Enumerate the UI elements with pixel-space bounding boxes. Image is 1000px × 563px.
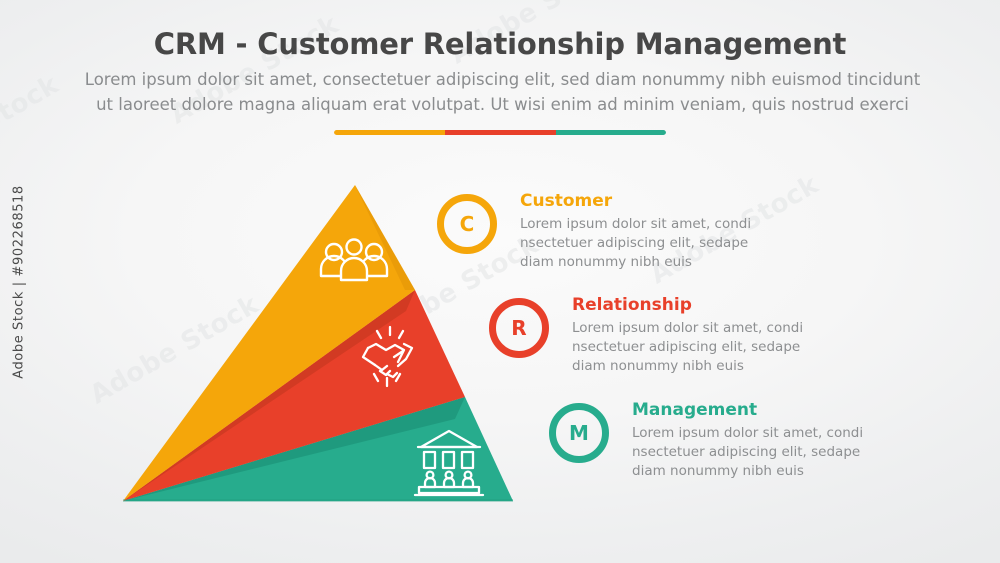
item-management[interactable]: M Management Lorem ipsum dolor sit amet,… xyxy=(549,399,877,481)
item-heading-management: Management xyxy=(632,401,877,420)
pyramid-band-relationship-shadow xyxy=(123,290,415,501)
item-body-management: Management Lorem ipsum dolor sit amet, c… xyxy=(632,399,877,481)
people-group-icon xyxy=(321,240,387,281)
pyramid-base-shadow xyxy=(123,499,513,502)
pyramid-band-management xyxy=(123,397,513,501)
infographic-canvas: Adobe Stock Adobe Stock Adobe Stock Adob… xyxy=(0,0,1000,563)
badge-letter-customer: C xyxy=(460,214,475,234)
divider-segment-amber xyxy=(334,130,445,135)
item-description-management: Lorem ipsum dolor sit amet, condi nsecte… xyxy=(632,424,877,481)
badge-letter-management: M xyxy=(569,423,589,443)
badge-customer: C xyxy=(437,194,497,254)
item-description-customer: Lorem ipsum dolor sit amet, condi nsecte… xyxy=(520,215,765,272)
divider-segment-teal xyxy=(556,130,666,135)
handshake-icon xyxy=(363,327,412,386)
stock-credit-label: Adobe Stock | #902268518 xyxy=(12,185,27,379)
pyramid-band-management-shadow xyxy=(123,397,465,501)
color-divider xyxy=(334,130,666,135)
divider-segment-red xyxy=(445,130,556,135)
item-body-customer: Customer Lorem ipsum dolor sit amet, con… xyxy=(520,190,765,272)
page-subtitle: Lorem ipsum dolor sit amet, consectetuer… xyxy=(75,67,930,117)
watermark-text: Adobe Stock xyxy=(85,290,264,411)
item-customer[interactable]: C Customer Lorem ipsum dolor sit amet, c… xyxy=(437,190,765,272)
pyramid-band-relationship xyxy=(123,290,465,501)
item-heading-customer: Customer xyxy=(520,192,765,211)
stock-credit-bar: Adobe Stock | #902268518 xyxy=(4,0,34,563)
badge-letter-relationship: R xyxy=(511,318,526,338)
page-title: CRM - Customer Relationship Management xyxy=(0,27,1000,61)
item-heading-relationship: Relationship xyxy=(572,296,817,315)
pyramid-band-customer xyxy=(123,185,415,501)
bank-building-icon xyxy=(415,431,483,495)
item-description-relationship: Lorem ipsum dolor sit amet, condi nsecte… xyxy=(572,319,817,376)
item-body-relationship: Relationship Lorem ipsum dolor sit amet,… xyxy=(572,294,817,376)
pyramid-apex-shade xyxy=(355,185,415,290)
item-relationship[interactable]: R Relationship Lorem ipsum dolor sit ame… xyxy=(489,294,817,376)
pyramid-seam xyxy=(123,290,415,501)
badge-management: M xyxy=(549,403,609,463)
badge-relationship: R xyxy=(489,298,549,358)
